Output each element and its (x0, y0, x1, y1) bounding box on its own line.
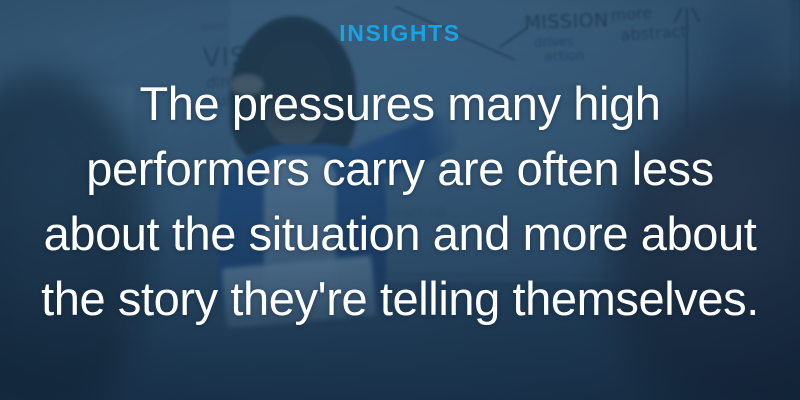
insights-quote-card: aims VISION direction us MISSION drives … (0, 0, 800, 400)
quote-line-1: The pressures many high (12, 71, 788, 136)
card-content: INSIGHTS The pressures many high perform… (0, 0, 800, 400)
insights-eyebrow-label: INSIGHTS (339, 22, 460, 45)
quote-line-2: performers carry are often less (12, 136, 788, 201)
quote-line-3: about the situation and more about (12, 201, 788, 266)
quote-text: The pressures many high performers carry… (0, 71, 800, 331)
quote-line-4: the story they're telling themselves. (12, 266, 788, 331)
